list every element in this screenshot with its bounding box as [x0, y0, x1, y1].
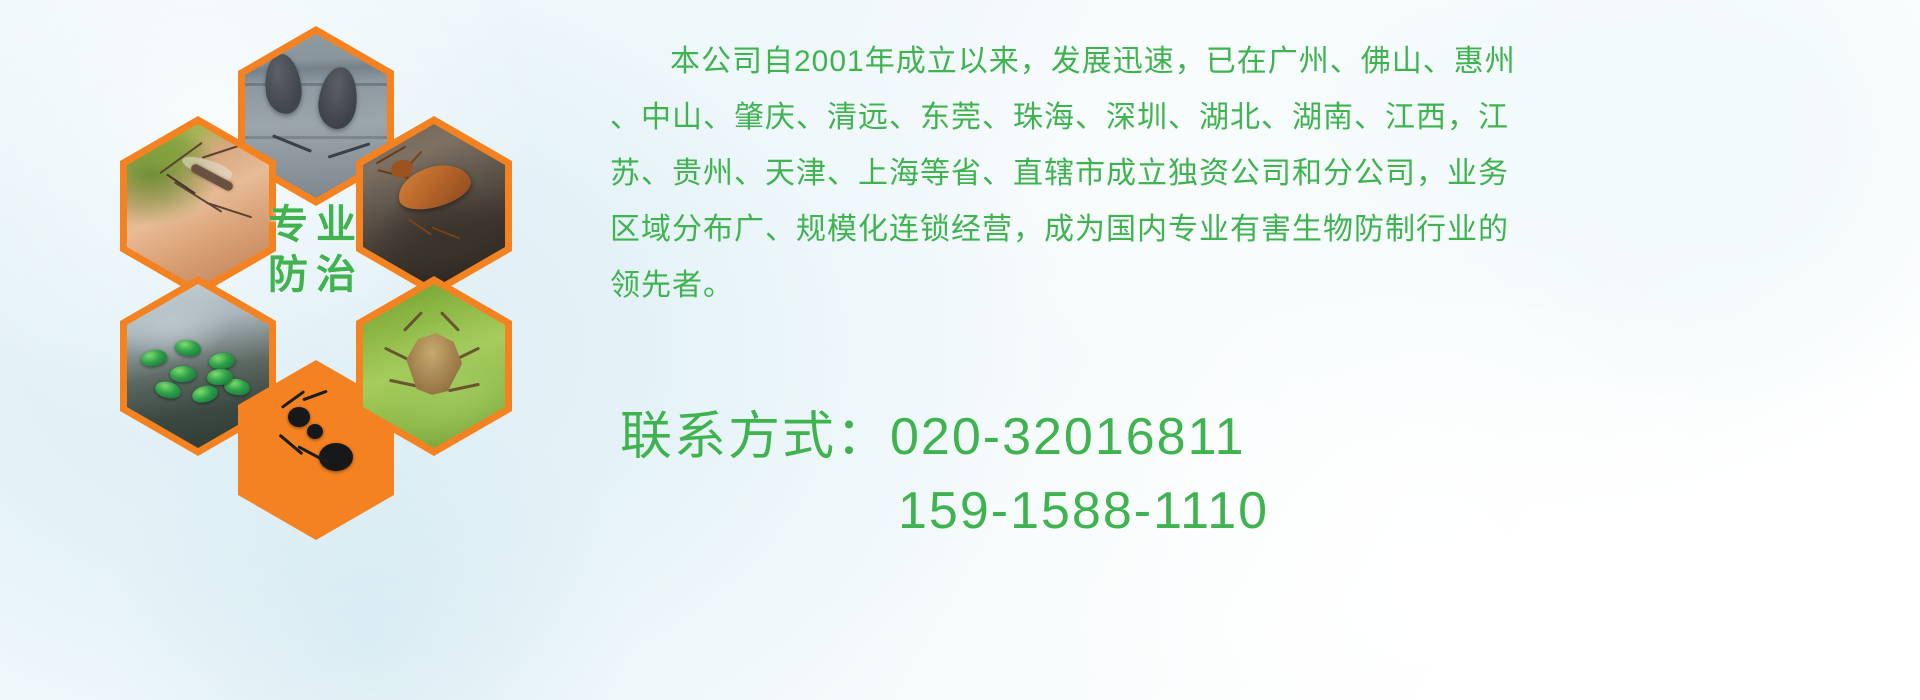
honeycomb-gallery: 专业 防治 [88, 8, 588, 568]
contact-phone-mobile[interactable]: 159-1588-1110 [620, 474, 1920, 548]
company-intro-text: 本公司自2001年成立以来，发展迅速，已在广州、佛山、惠州 、中山、肇庆、清远、… [610, 34, 1910, 314]
hex-photo-stinkbug-image [363, 284, 505, 448]
intro-line-2: 、中山、肇庆、清远、东莞、珠海、深圳、湖北、湖南、江西，江 [610, 90, 1910, 146]
company-intro-banner: 专业 防治 本公司自2001年成立以来，发展迅速，已在广州、佛山、惠州 、中山、… [0, 0, 1920, 700]
contact-block: 联系方式：020-32016811 159-1588-1110 [620, 400, 1920, 548]
intro-line-1: 本公司自2001年成立以来，发展迅速，已在广州、佛山、惠州 [610, 34, 1910, 90]
contact-phone-landline[interactable]: 联系方式：020-32016811 [620, 400, 1920, 474]
intro-line-5: 领先者。 [610, 258, 1910, 314]
intro-line-4: 区域分布广、规模化连锁经营，成为国内专业有害生物防制行业的 [610, 202, 1910, 258]
intro-line-3: 苏、贵州、天津、上海等省、直辖市成立独资公司和分公司，业务 [610, 146, 1910, 202]
slogan-line-1: 专业 [268, 200, 364, 250]
slogan-line-2: 防治 [268, 250, 364, 300]
